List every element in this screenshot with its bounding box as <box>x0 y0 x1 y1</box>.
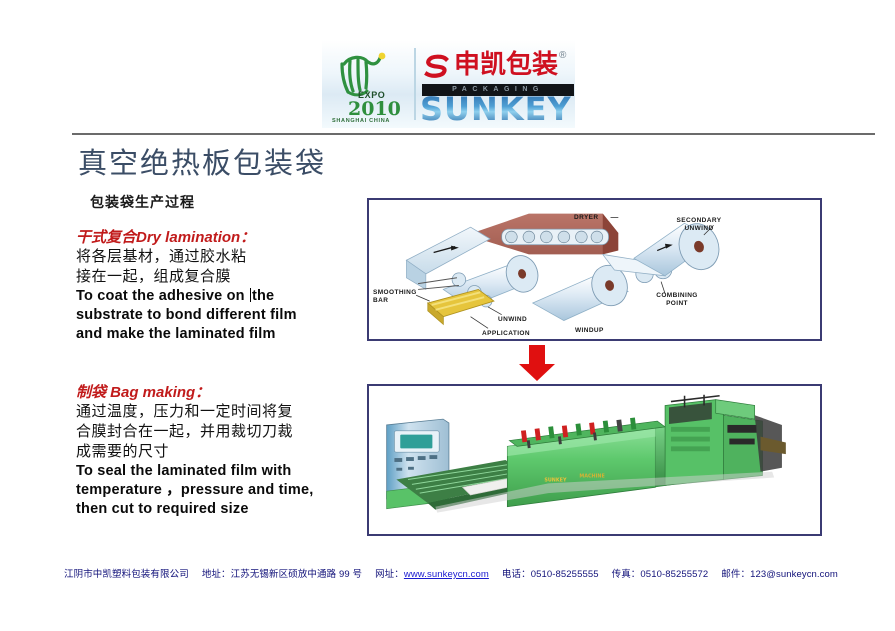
fig-label-windup: WINDUP <box>575 327 604 335</box>
footer-website-label: 网址： <box>375 569 404 580</box>
bag-making-english: To seal the laminated film with temperat… <box>76 462 371 519</box>
dry-lamination-figure: DRYER SECONDARY UNWIND SMOOTHING BAR UNW… <box>367 198 822 341</box>
dry-lamination-english-line-1: To coat the adhesive on the <box>76 287 366 306</box>
header-logo-block: EXPO 2010 SHANGHAI CHINA 申凯包装 ® PACKAGIN… <box>322 40 575 128</box>
footer-fax: 0510-85255572 <box>640 569 708 580</box>
fig-label-smoothing-bar: SMOOTHING BAR <box>373 289 415 305</box>
sunkey-logo: 申凯包装 ® PACKAGING SUNKEY <box>420 40 575 128</box>
dry-lamination-chinese: 将各层基材，通过胶水粘 接在一起，组成复合膜 <box>76 247 366 287</box>
bag-making-english-line-2: temperature ，pressure and time, <box>76 481 371 500</box>
text-cursor <box>250 288 251 302</box>
fig-label-secondary-unwind: SECONDARY UNWIND <box>669 217 729 233</box>
expo-city-label: SHANGHAI CHINA <box>332 118 390 124</box>
dry-lamination-heading: 干式复合Dry lamination： <box>76 226 366 247</box>
svg-text:MACHINE: MACHINE <box>579 474 604 480</box>
section-subtitle: 包装袋生产过程 <box>90 192 195 212</box>
bag-making-heading: 制袋 Bag making： <box>76 381 371 402</box>
bag-machine-svg: SUNKEY MACHINE <box>369 386 820 534</box>
bag-making-machine-photo: SUNKEY MACHINE <box>369 386 820 534</box>
bag-making-machine-figure: SUNKEY MACHINE <box>367 384 822 536</box>
registered-trademark-icon: ® <box>559 50 566 61</box>
expo-year-label: 2010 <box>348 98 401 120</box>
expo-logo: EXPO 2010 SHANGHAI CHINA <box>322 40 414 128</box>
footer-phone-label: 电话： <box>502 569 531 580</box>
footer-website-link[interactable]: www.sunkeycn.com <box>404 569 489 580</box>
footer-address: 江苏无锡新区硕放中通路 99 号 <box>231 569 362 580</box>
footer-company: 江阴市中凯塑料包装有限公司 <box>64 569 189 580</box>
bag-making-chinese-line-1: 通过温度，压力和一定时间将复 <box>76 402 371 422</box>
footer-email: 123@sunkeycn.com <box>750 569 838 580</box>
fig-label-application: APPLICATION <box>482 330 530 338</box>
down-arrow-icon <box>517 345 557 381</box>
footer-contact-bar: 江阴市中凯塑料包装有限公司地址：江苏无锡新区硕放中通路 99 号网址：www.s… <box>64 566 864 580</box>
dry-lamination-diagram: DRYER SECONDARY UNWIND SMOOTHING BAR UNW… <box>369 200 820 339</box>
sunkey-chinese-name: 申凯包装 <box>454 50 558 80</box>
dry-lamination-english-line-1a: To coat the adhesive on <box>76 288 249 304</box>
footer-address-label: 地址： <box>202 569 231 580</box>
bag-making-text-block: 制袋 Bag making： 通过温度，压力和一定时间将复 合膜封合在一起，并用… <box>76 381 371 519</box>
bag-making-chinese-line-3: 成需要的尺寸 <box>76 442 371 462</box>
title-divider-rule <box>72 133 875 135</box>
footer-email-label: 邮件： <box>721 569 750 580</box>
bag-making-english-line-1: To seal the laminated film with <box>76 462 371 481</box>
bag-making-chinese: 通过温度，压力和一定时间将复 合膜封合在一起，并用裁切刀裁 成需要的尺寸 <box>76 402 371 462</box>
fig-label-dryer: DRYER <box>574 214 599 222</box>
dry-lamination-chinese-line-2: 接在一起，组成复合膜 <box>76 267 366 287</box>
fig-label-unwind: UNWIND <box>498 316 527 324</box>
bag-making-english-line-3: then cut to required size <box>76 500 371 519</box>
footer-fax-label: 传真： <box>612 569 641 580</box>
footer-phone: 0510-85255555 <box>531 569 599 580</box>
dry-lamination-english-line-3: and make the laminated film <box>76 325 366 344</box>
bag-making-chinese-line-2: 合膜封合在一起，并用裁切刀裁 <box>76 422 371 442</box>
dry-lamination-english: To coat the adhesive on the substrate to… <box>76 287 366 344</box>
page-title: 真空绝热板包装袋 <box>78 140 326 182</box>
dry-lamination-english-line-2: substrate to bond different film <box>76 306 366 325</box>
dry-lamination-text-block: 干式复合Dry lamination： 将各层基材，通过胶水粘 接在一起，组成复… <box>76 226 366 344</box>
sunkey-s-mark-icon <box>424 54 450 80</box>
fig-label-combining-point: COMBINING POINT <box>649 292 705 308</box>
sunkey-wordmark: SUNKEY <box>420 92 572 126</box>
dry-lamination-chinese-line-1: 将各层基材，通过胶水粘 <box>76 247 366 267</box>
logo-divider <box>414 48 416 120</box>
dry-lamination-english-line-1b: the <box>252 288 274 304</box>
svg-text:SUNKEY: SUNKEY <box>544 477 567 483</box>
